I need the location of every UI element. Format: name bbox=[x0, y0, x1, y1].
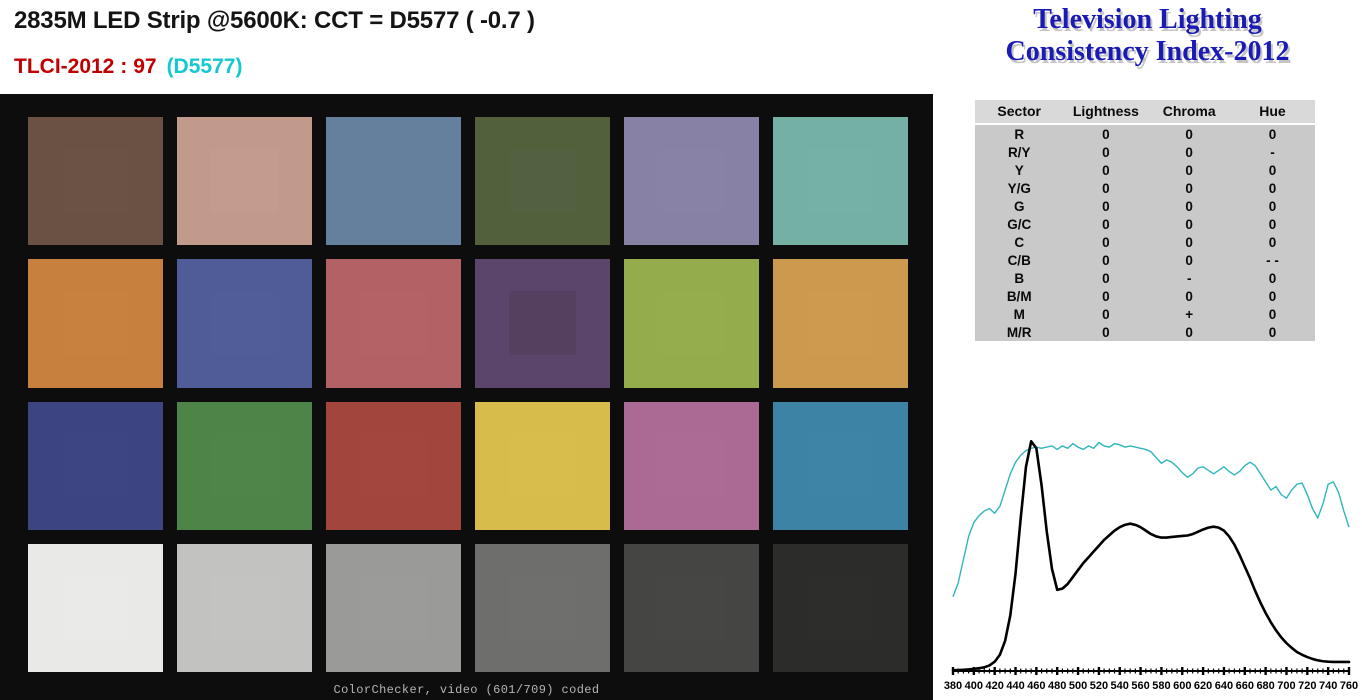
color-patch-orange-yellow bbox=[773, 259, 908, 387]
hue-cell: 0 bbox=[1230, 197, 1315, 215]
color-patch-light-skin bbox=[177, 117, 312, 245]
color-patch-reference-blue bbox=[62, 434, 130, 498]
wavelength-tick-labels: 3804004204404604805005205405605806006206… bbox=[944, 680, 1358, 692]
color-patch-blue bbox=[28, 402, 163, 530]
sector-cell: M/R bbox=[975, 323, 1063, 341]
hue-cell: 0 bbox=[1230, 233, 1315, 251]
chroma-cell: 0 bbox=[1148, 251, 1230, 269]
color-patch-blue-sky bbox=[326, 117, 461, 245]
axis-tick-label: 380 bbox=[944, 680, 962, 692]
axis-tick-label: 660 bbox=[1236, 680, 1254, 692]
color-patch-neutral-8 bbox=[177, 544, 312, 672]
lightness-cell: 0 bbox=[1063, 179, 1148, 197]
chroma-cell: 0 bbox=[1148, 161, 1230, 179]
color-patch-reference-cyan bbox=[807, 434, 875, 498]
color-checker-panel: 2835M LED Strip @5600K: CCT = D5577 ( -0… bbox=[0, 0, 933, 700]
tlci-title-line2: Consistency Index-2012 bbox=[933, 36, 1362, 68]
chroma-cell: 0 bbox=[1148, 323, 1230, 341]
lightness-cell: 0 bbox=[1063, 215, 1148, 233]
lightness-cell: 0 bbox=[1063, 233, 1148, 251]
axis-tick-label: 400 bbox=[965, 680, 983, 692]
tlci-result-line: TLCI-2012 :97(D5577) bbox=[14, 55, 242, 79]
sector-cell: G/C bbox=[975, 215, 1063, 233]
color-checker-grid bbox=[28, 117, 908, 672]
table-row: C000 bbox=[975, 233, 1315, 251]
sector-cell: C/B bbox=[975, 251, 1063, 269]
color-patch-reference-light-skin bbox=[211, 149, 279, 213]
hue-cell: 0 bbox=[1230, 305, 1315, 323]
axis-tick-label: 500 bbox=[1069, 680, 1087, 692]
lightness-cell: 0 bbox=[1063, 269, 1148, 287]
sector-table-header-row: Sector Lightness Chroma Hue bbox=[975, 100, 1315, 124]
color-patch-reference-neutral-6-5 bbox=[360, 576, 428, 640]
table-row: R000 bbox=[975, 124, 1315, 143]
color-patch-reference-dark-skin bbox=[62, 149, 130, 213]
column-header-sector: Sector bbox=[975, 100, 1063, 124]
axis-tick-label: 540 bbox=[1111, 680, 1129, 692]
device-title: 2835M LED Strip @5600K: CCT = D5577 ( -0… bbox=[14, 7, 535, 35]
color-patch-reference-purplish-blue bbox=[211, 291, 279, 355]
reference-curve bbox=[953, 442, 1349, 596]
sector-cell: B/M bbox=[975, 287, 1063, 305]
hue-cell: 0 bbox=[1230, 124, 1315, 143]
axis-tick-label: 600 bbox=[1173, 680, 1191, 692]
color-patch-reference-orange-yellow bbox=[807, 291, 875, 355]
color-patch-reference-magenta bbox=[658, 434, 726, 498]
spectrum-curves bbox=[953, 441, 1349, 670]
chroma-cell: + bbox=[1148, 305, 1230, 323]
axis-tick-label: 420 bbox=[986, 680, 1004, 692]
sector-table-body: R000R/Y00-Y000Y/G000G000G/C000C000C/B00-… bbox=[975, 124, 1315, 341]
color-checker-caption: ColorChecker, video (601/709) coded bbox=[0, 683, 933, 697]
table-row: G000 bbox=[975, 197, 1315, 215]
tlci-label: TLCI-2012 : bbox=[14, 55, 127, 78]
color-patch-reference-yellow-green bbox=[658, 291, 726, 355]
sector-cell: G bbox=[975, 197, 1063, 215]
hue-cell: - - bbox=[1230, 251, 1315, 269]
color-patch-bluish-green bbox=[773, 117, 908, 245]
color-patch-reference-moderate-red bbox=[360, 291, 428, 355]
chroma-cell: 0 bbox=[1148, 233, 1230, 251]
color-patch-purple bbox=[475, 259, 610, 387]
color-patch-dark-skin bbox=[28, 117, 163, 245]
chroma-cell: - bbox=[1148, 269, 1230, 287]
axis-tick-label: 680 bbox=[1256, 680, 1274, 692]
chroma-cell: 0 bbox=[1148, 197, 1230, 215]
table-row: M/R000 bbox=[975, 323, 1315, 341]
hue-cell: 0 bbox=[1230, 269, 1315, 287]
sector-cell: Y/G bbox=[975, 179, 1063, 197]
lightness-cell: 0 bbox=[1063, 161, 1148, 179]
tlci-summary-panel: Television Lighting Consistency Index-20… bbox=[933, 0, 1362, 700]
table-row: Y/G000 bbox=[975, 179, 1315, 197]
axis-tick-label: 700 bbox=[1277, 680, 1295, 692]
color-patch-black-2 bbox=[773, 544, 908, 672]
color-patch-purplish-blue bbox=[177, 259, 312, 387]
color-patch-reference-orange bbox=[62, 291, 130, 355]
hue-cell: 0 bbox=[1230, 215, 1315, 233]
chroma-cell: 0 bbox=[1148, 124, 1230, 143]
color-patch-reference-neutral-3-5 bbox=[658, 576, 726, 640]
hue-cell: 0 bbox=[1230, 323, 1315, 341]
table-row: G/C000 bbox=[975, 215, 1315, 233]
color-patch-green bbox=[177, 402, 312, 530]
sector-cell: R bbox=[975, 124, 1063, 143]
color-patch-reference-bluish-green bbox=[807, 149, 875, 213]
sector-table: Sector Lightness Chroma Hue R000R/Y00-Y0… bbox=[975, 100, 1315, 341]
table-row: C/B00- - bbox=[975, 251, 1315, 269]
color-patch-magenta bbox=[624, 402, 759, 530]
table-row: B/M000 bbox=[975, 287, 1315, 305]
color-patch-yellow bbox=[475, 402, 610, 530]
axis-tick-label: 460 bbox=[1027, 680, 1045, 692]
color-patch-neutral-5 bbox=[475, 544, 610, 672]
axis-tick-label: 520 bbox=[1090, 680, 1108, 692]
column-header-hue: Hue bbox=[1230, 100, 1315, 124]
tlci-score: 97 bbox=[133, 55, 156, 78]
axis-tick-label: 560 bbox=[1131, 680, 1149, 692]
axis-tick-label: 740 bbox=[1319, 680, 1337, 692]
color-patch-neutral-6-5 bbox=[326, 544, 461, 672]
tlci-illuminant: (D5577) bbox=[167, 55, 243, 78]
color-patch-neutral-3-5 bbox=[624, 544, 759, 672]
color-patch-blue-flower bbox=[624, 117, 759, 245]
sector-cell: Y bbox=[975, 161, 1063, 179]
axis-tick-label: 760 bbox=[1340, 680, 1358, 692]
tlci-report-screen: 2835M LED Strip @5600K: CCT = D5577 ( -0… bbox=[0, 0, 1362, 700]
color-patch-reference-neutral-8 bbox=[211, 576, 279, 640]
hue-cell: 0 bbox=[1230, 179, 1315, 197]
lightness-cell: 0 bbox=[1063, 143, 1148, 161]
color-patch-reference-yellow bbox=[509, 434, 577, 498]
color-patch-reference-white-9-5 bbox=[62, 576, 130, 640]
color-patch-white-9-5 bbox=[28, 544, 163, 672]
color-patch-reference-green bbox=[211, 434, 279, 498]
axis-tick-label: 720 bbox=[1298, 680, 1316, 692]
color-checker-chart: ColorChecker, video (601/709) coded bbox=[0, 94, 933, 700]
axis-tick-label: 580 bbox=[1152, 680, 1170, 692]
color-patch-reference-neutral-5 bbox=[509, 576, 577, 640]
lightness-cell: 0 bbox=[1063, 124, 1148, 143]
axis-tick-label: 440 bbox=[1006, 680, 1024, 692]
measurement-header: 2835M LED Strip @5600K: CCT = D5577 ( -0… bbox=[0, 0, 933, 94]
lightness-cell: 0 bbox=[1063, 197, 1148, 215]
color-patch-moderate-red bbox=[326, 259, 461, 387]
hue-cell: - bbox=[1230, 143, 1315, 161]
axis-tick-label: 480 bbox=[1048, 680, 1066, 692]
sector-cell: R/Y bbox=[975, 143, 1063, 161]
lightness-cell: 0 bbox=[1063, 287, 1148, 305]
sector-cell: C bbox=[975, 233, 1063, 251]
column-header-lightness: Lightness bbox=[1063, 100, 1148, 124]
wavelength-axis bbox=[953, 667, 1349, 675]
hue-cell: 0 bbox=[1230, 287, 1315, 305]
chroma-cell: 0 bbox=[1148, 143, 1230, 161]
sector-cell: B bbox=[975, 269, 1063, 287]
column-header-chroma: Chroma bbox=[1148, 100, 1230, 124]
color-patch-orange bbox=[28, 259, 163, 387]
lightness-cell: 0 bbox=[1063, 323, 1148, 341]
spectrum-plot: 3804004204404604805005205405605806006206… bbox=[939, 425, 1358, 697]
table-row: B0-0 bbox=[975, 269, 1315, 287]
chroma-cell: 0 bbox=[1148, 215, 1230, 233]
axis-tick-label: 620 bbox=[1194, 680, 1212, 692]
color-patch-reference-red bbox=[360, 434, 428, 498]
spd-curve bbox=[953, 441, 1349, 670]
hue-cell: 0 bbox=[1230, 161, 1315, 179]
color-patch-reference-blue-flower bbox=[658, 149, 726, 213]
color-patch-reference-black-2 bbox=[807, 576, 875, 640]
lightness-cell: 0 bbox=[1063, 251, 1148, 269]
spectrum-chart: 3804004204404604805005205405605806006206… bbox=[939, 425, 1358, 697]
table-row: M0+0 bbox=[975, 305, 1315, 323]
sector-cell: M bbox=[975, 305, 1063, 323]
color-patch-reference-foliage bbox=[509, 149, 577, 213]
lightness-cell: 0 bbox=[1063, 305, 1148, 323]
table-row: Y000 bbox=[975, 161, 1315, 179]
tlci-title: Television Lighting Consistency Index-20… bbox=[933, 4, 1362, 68]
tlci-title-line1: Television Lighting bbox=[1033, 4, 1261, 35]
chroma-cell: 0 bbox=[1148, 287, 1230, 305]
color-patch-reference-blue-sky bbox=[360, 149, 428, 213]
axis-tick-label: 640 bbox=[1215, 680, 1233, 692]
color-patch-red bbox=[326, 402, 461, 530]
color-patch-reference-purple bbox=[509, 291, 577, 355]
color-patch-yellow-green bbox=[624, 259, 759, 387]
chroma-cell: 0 bbox=[1148, 179, 1230, 197]
color-patch-cyan bbox=[773, 402, 908, 530]
table-row: R/Y00- bbox=[975, 143, 1315, 161]
color-patch-foliage bbox=[475, 117, 610, 245]
